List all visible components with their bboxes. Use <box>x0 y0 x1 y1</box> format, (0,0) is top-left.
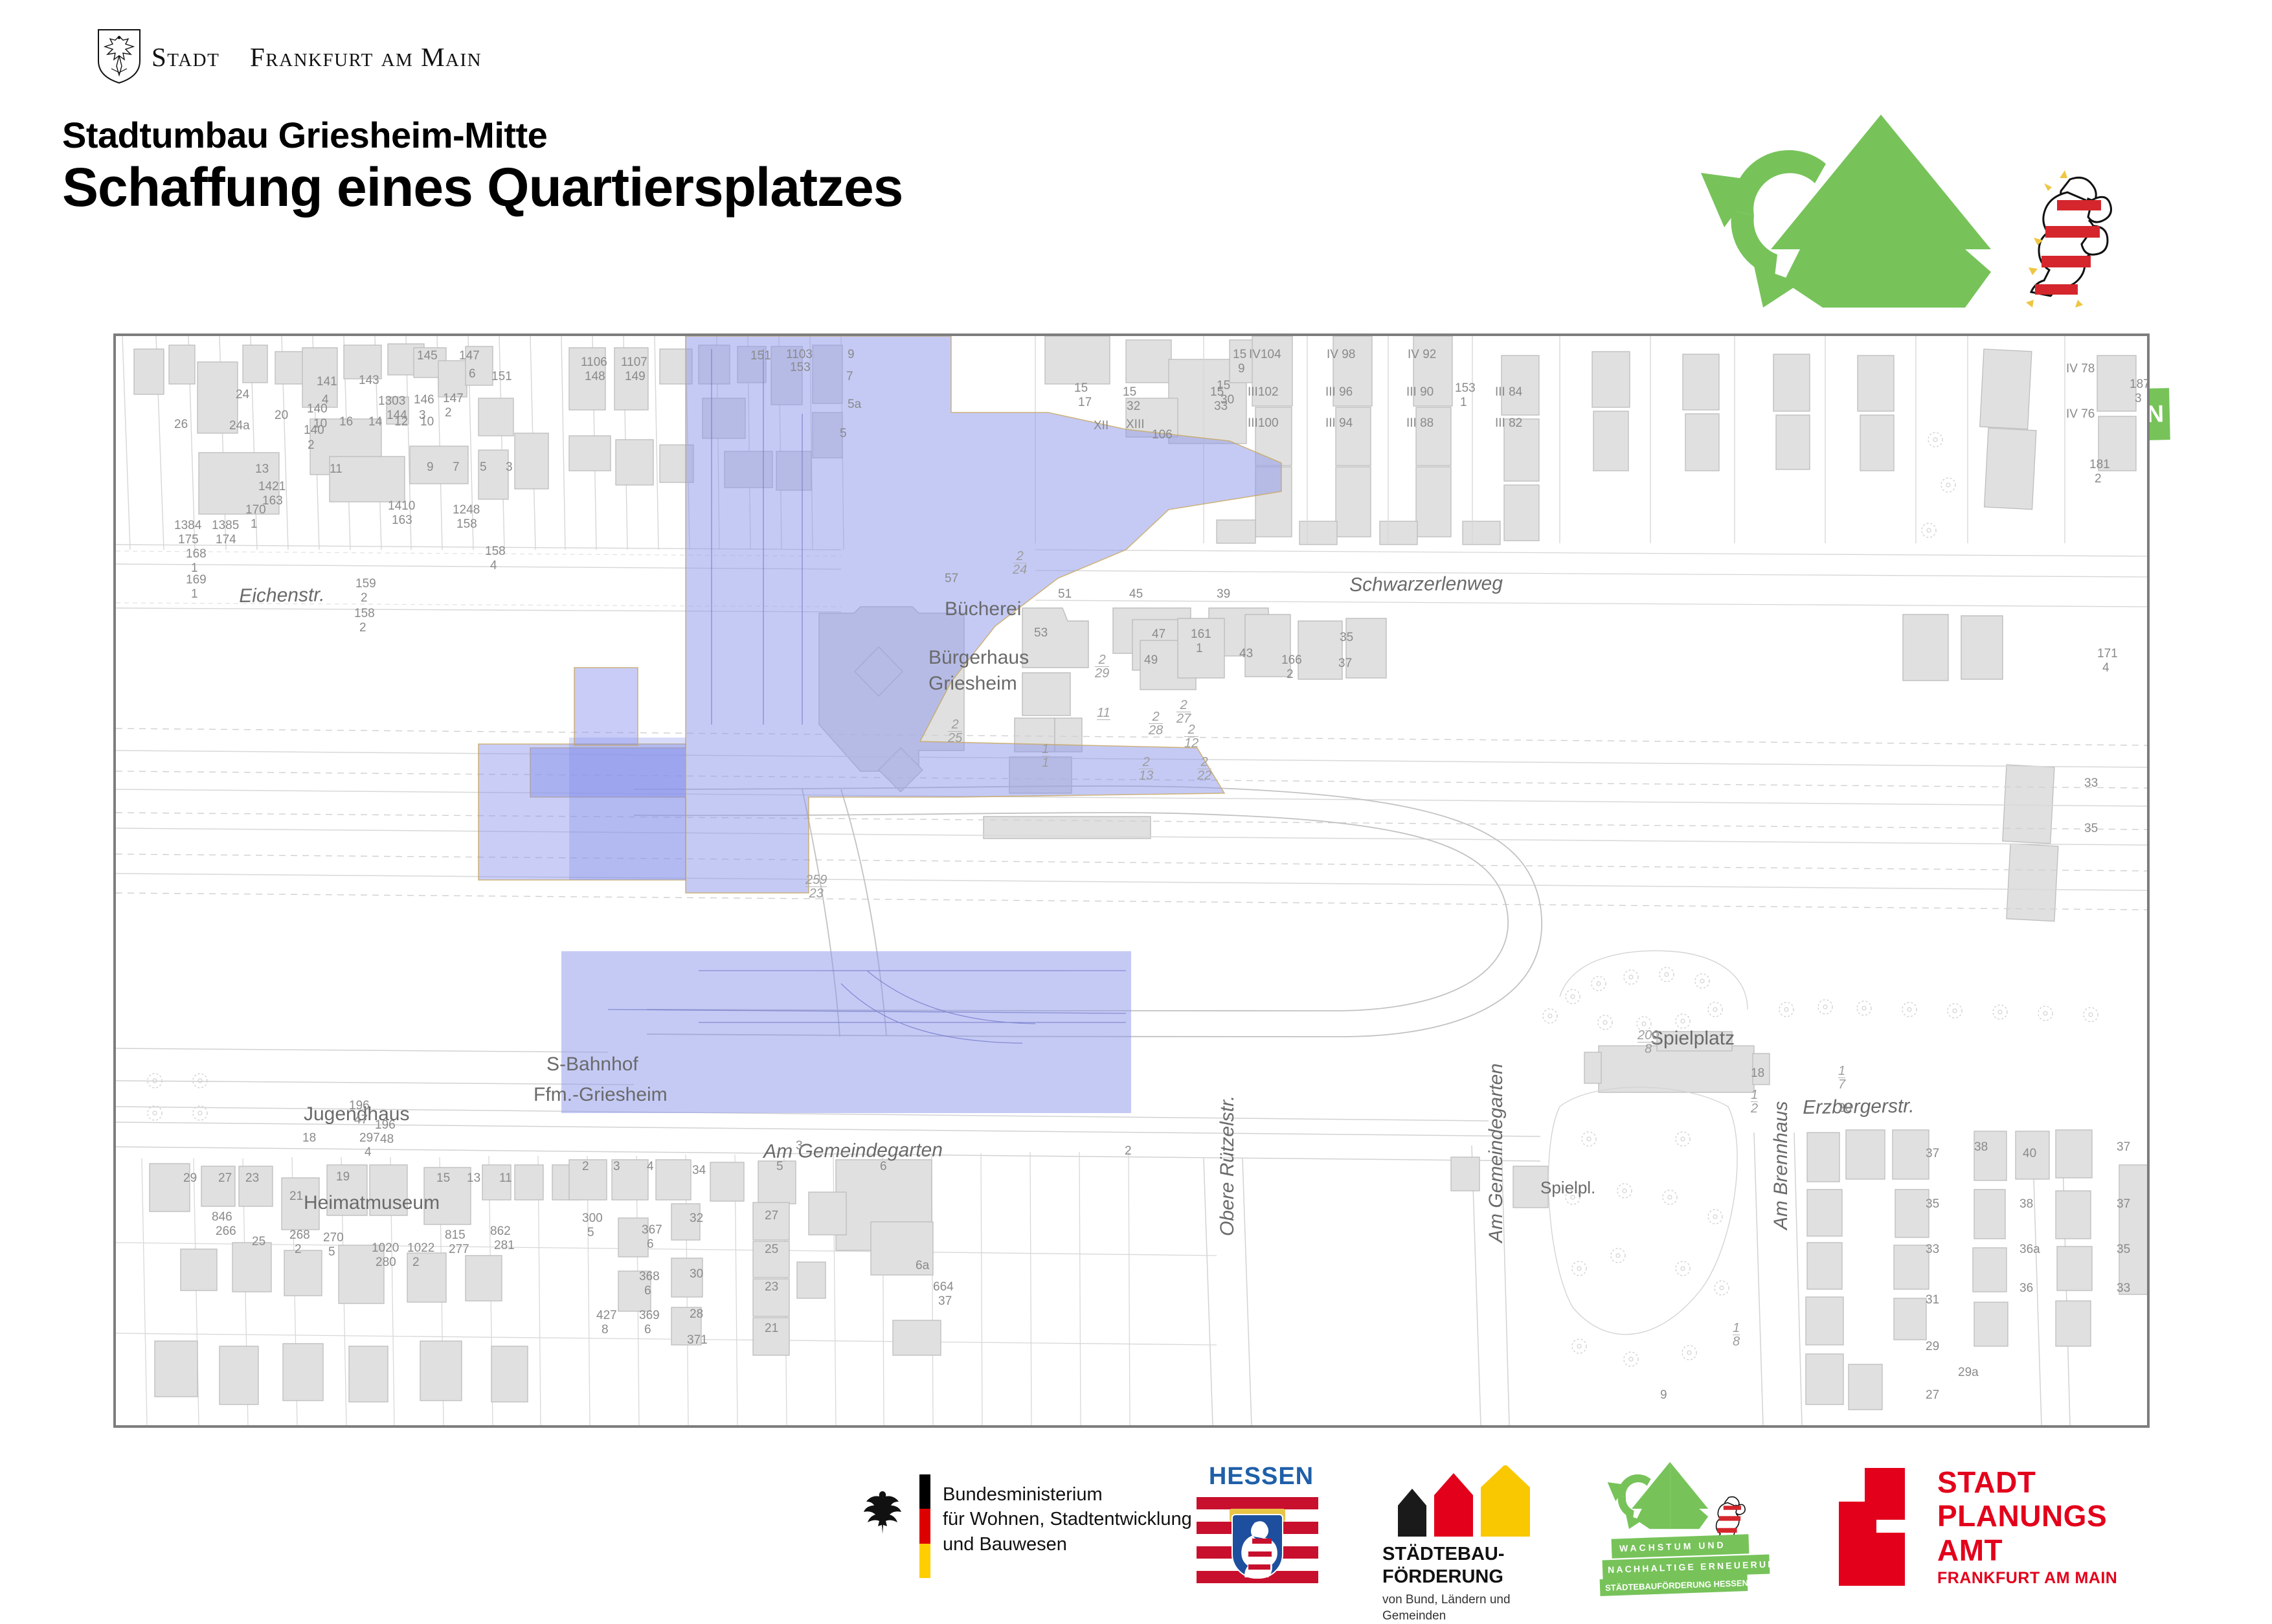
bmwsb-line1: Bundesministerium <box>943 1482 1192 1507</box>
bundesadler-icon <box>861 1489 904 1537</box>
quartiersplatz-highlight-overlap <box>569 738 686 880</box>
stbf-line1: STÄDTEBAU- <box>1382 1543 1505 1566</box>
stadtplanungsamt-logo: STADT PLANUNGS AMT FRANKFURT AM MAIN <box>1839 1465 2176 1595</box>
parcel-fraction-label: 2008 <box>1637 1029 1659 1055</box>
spa-line2: PLANUNGS <box>1937 1499 2107 1533</box>
parcel-fraction-label: 227 <box>1176 699 1191 725</box>
parcel-fraction-label: 25923 <box>805 874 827 900</box>
city-wordmark-logo: Stadt Frankfurt am Main <box>96 27 510 85</box>
parcel-fraction-label: 18 <box>1733 1322 1740 1348</box>
frankfurt-f-mark-icon <box>1839 1468 1917 1586</box>
staedtebaufoerderung-label: STÄDTEBAU- FÖRDERUNG <box>1382 1543 1505 1589</box>
hessen-lion-icon <box>1997 164 2114 310</box>
page-header: Stadt Frankfurt am Main Stadtumbau Gries… <box>0 0 2272 304</box>
german-flag-bar <box>919 1474 930 1578</box>
wachstum-logo-small: WACHSTUM UND NACHHALTIGE ERNEUERUNG STÄD… <box>1603 1460 1810 1596</box>
frankfurt-eagle-crest-icon <box>96 28 142 84</box>
hessen-flag-icon <box>1197 1494 1318 1592</box>
city-logo-text-stadt: Stadt <box>152 41 219 73</box>
stadtplanungsamt-label: STADT PLANUNGS AMT <box>1937 1465 2107 1567</box>
hessen-shield-icon <box>1232 1514 1283 1579</box>
bmwsb-line3: und Bauwesen <box>943 1532 1192 1557</box>
parcel-fraction-label: 11 <box>1042 743 1049 769</box>
parcel-fraction-label: 229 <box>1095 653 1109 680</box>
spa-line3: AMT <box>1937 1533 2107 1567</box>
city-logo-text-frankfurt: Frankfurt am Main <box>250 41 482 73</box>
page-title: Schaffung eines Quartiersplatzes <box>62 160 903 216</box>
parcel-fraction-label: 225 <box>948 718 962 745</box>
parcel-fraction-label: 11 <box>1097 706 1110 720</box>
parcel-fraction-label: 212 <box>1184 723 1198 750</box>
stbf-sub2: Gemeinden <box>1382 1608 1511 1624</box>
parcel-fraction-label: 222 <box>1197 756 1211 782</box>
quartiersplatz-highlight-area-south <box>561 951 1131 1113</box>
parcel-fraction-label: 224 <box>1013 550 1027 576</box>
staedtebaufoerderung-logo: STÄDTEBAU- FÖRDERUNG von Bund, Ländern u… <box>1382 1465 1596 1595</box>
funding-logo-bar: Bundesministerium für Wohnen, Stadtentwi… <box>0 1454 2272 1606</box>
parcel-fraction-label: 228 <box>1149 710 1163 737</box>
bmwsb-line2: für Wohnen, Stadtentwicklung <box>943 1507 1192 1531</box>
quartiersplatz-highlight-parcel-158-4 <box>574 668 638 745</box>
parcel-fraction-label: 17 <box>1838 1065 1845 1091</box>
spa-line1: STADT <box>1937 1465 2107 1499</box>
bundesministerium-label: Bundesministerium für Wohnen, Stadtentwi… <box>943 1482 1192 1557</box>
cadastral-site-plan-map[interactable]: Eichenstr.SchwarzerlenwegErzbergerstr.Am… <box>113 333 2150 1428</box>
project-subtitle: Stadtumbau Griesheim-Mitte <box>62 117 903 155</box>
parcel-fraction-label: 12 <box>1751 1088 1758 1115</box>
three-houses-icon <box>1391 1465 1566 1537</box>
parcel-fraction-label: 213 <box>1139 756 1153 782</box>
stadtplanungsamt-sublabel: FRANKFURT AM MAIN <box>1937 1569 2117 1588</box>
hessen-label: HESSEN <box>1197 1463 1326 1491</box>
hessen-state-logo: HESSEN <box>1197 1463 1326 1592</box>
stbf-line2: FÖRDERUNG <box>1382 1566 1505 1588</box>
map-vector-layer <box>116 336 2147 1425</box>
title-block: Stadtumbau Griesheim-Mitte Schaffung ein… <box>62 117 903 215</box>
bundesministerium-logo: Bundesministerium für Wohnen, Stadtentwi… <box>861 1467 1198 1583</box>
staedtebaufoerderung-sublabel: von Bund, Ländern und Gemeinden <box>1382 1592 1511 1624</box>
